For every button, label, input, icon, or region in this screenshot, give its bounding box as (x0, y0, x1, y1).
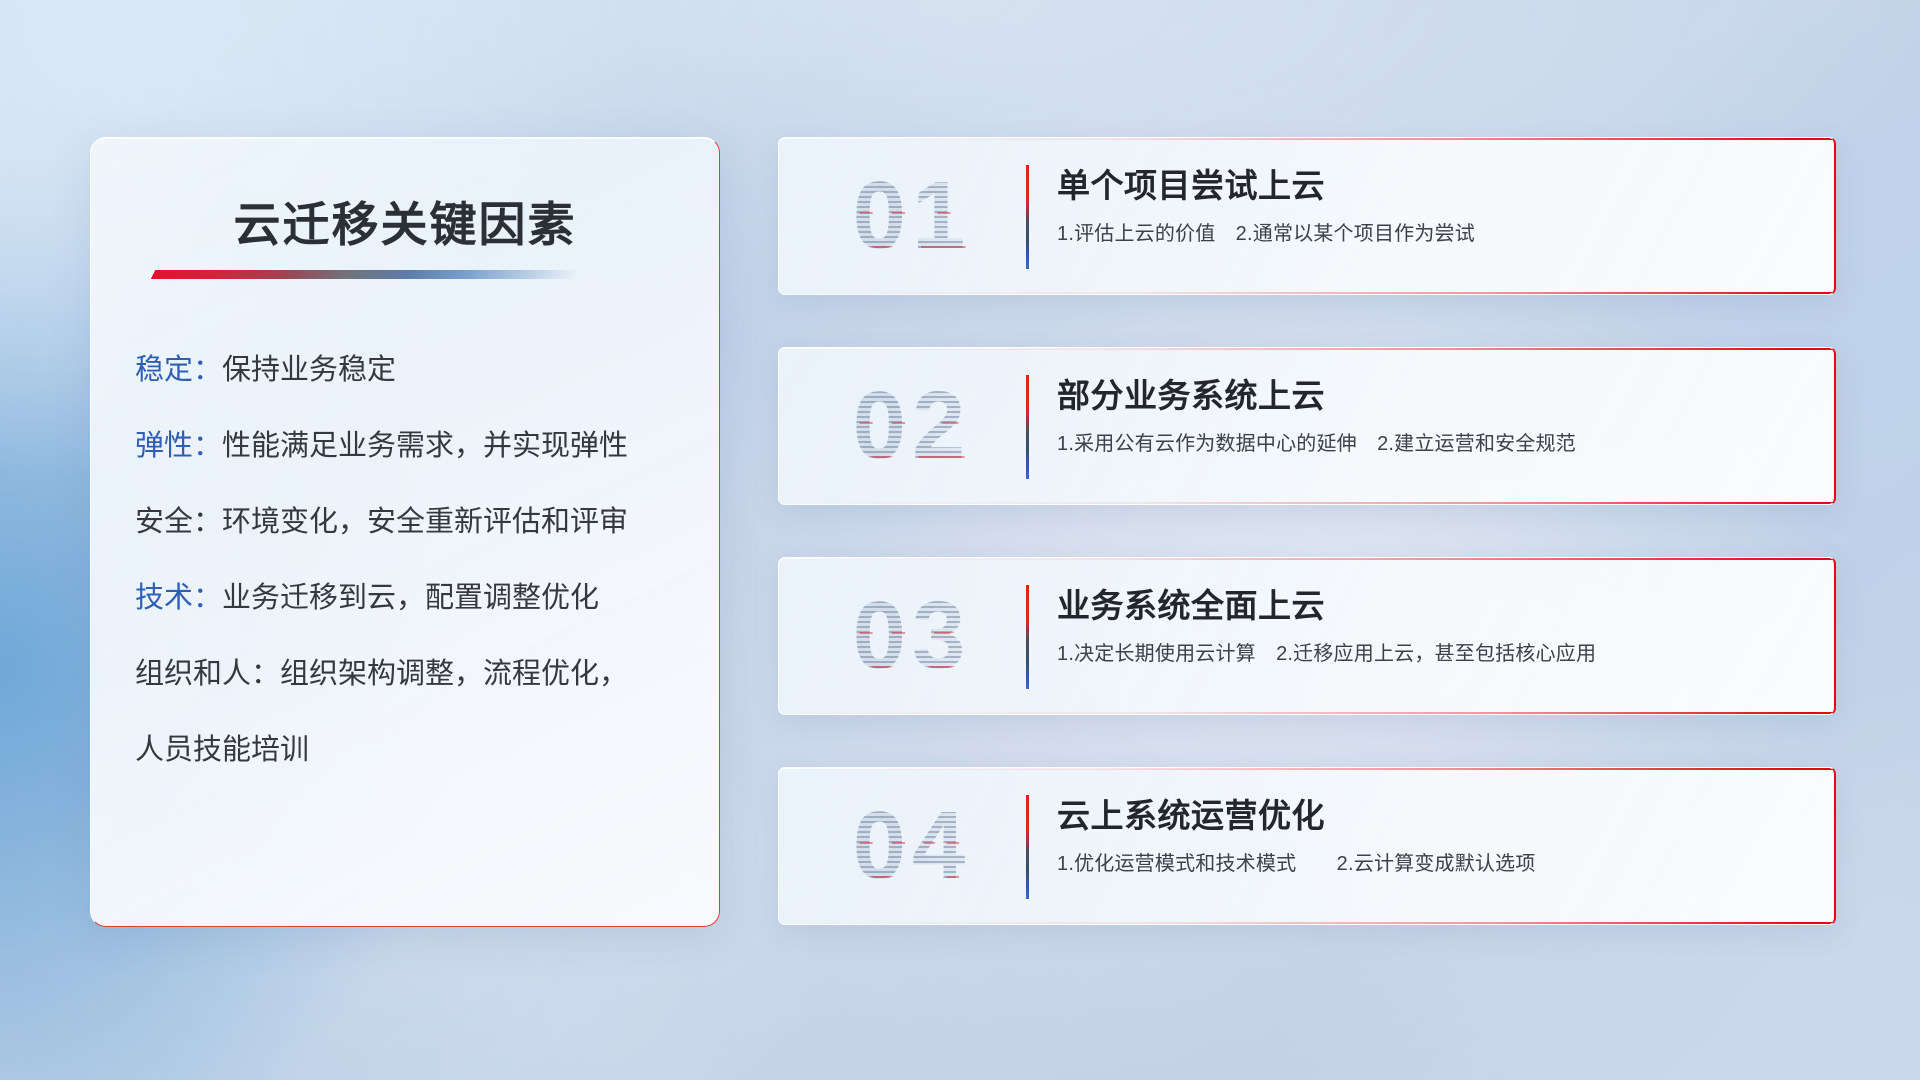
card-title: 单个项目尝试上云 (1057, 166, 1810, 206)
card-top-accent-line (779, 138, 1834, 140)
card-description: 1.决定长期使用云计算 2.迁移应用上云，甚至包括核心应用 (1057, 641, 1810, 667)
page-title: 云迁移关键因素 (91, 186, 719, 255)
list-item-text: 性能满足业务需求，并实现弹性 (222, 430, 628, 462)
card-accent-bar (1026, 165, 1029, 269)
card-top-accent-line (779, 348, 1834, 350)
card-body: 云上系统运营优化 1.优化运营模式和技术模式 2.云计算变成默认选项 (1057, 796, 1810, 877)
card-title: 业务系统全面上云 (1057, 586, 1810, 626)
card-step-number: 04 (797, 791, 1027, 901)
card-bottom-accent-line (779, 922, 1834, 924)
card-bottom-accent-line (779, 502, 1834, 504)
card-step-number: 03 (797, 581, 1027, 691)
card-accent-bar (1026, 375, 1029, 479)
stage-card[interactable]: 03 03 业务系统全面上云 1.决定长期使用云计算 2.迁移应用上云，甚至包括… (778, 557, 1836, 715)
card-top-accent-line (779, 768, 1834, 770)
list-item-text: 人员技能培训 (135, 734, 309, 766)
list-item-text: 环境变化，安全重新评估和评审 (222, 506, 628, 538)
card-description: 1.优化运营模式和技术模式 2.云计算变成默认选项 (1057, 851, 1810, 877)
list-item: 技术：业务迁移到云，配置调整优化 (135, 584, 691, 613)
stage-card[interactable]: 04 04 云上系统运营优化 1.优化运营模式和技术模式 2.云计算变成默认选项 (778, 767, 1836, 925)
card-body: 单个项目尝试上云 1.评估上云的价值 2.通常以某个项目作为尝试 (1057, 166, 1810, 247)
card-accent-bar (1026, 585, 1029, 689)
card-title: 云上系统运营优化 (1057, 796, 1810, 836)
stage-card[interactable]: 01 01 单个项目尝试上云 1.评估上云的价值 2.通常以某个项目作为尝试 (778, 137, 1836, 295)
title-underline-bar (151, 270, 579, 279)
list-item-text: 组织架构调整，流程优化， (280, 658, 628, 690)
card-step-number: 02 (797, 371, 1027, 481)
list-item: 弹性：性能满足业务需求，并实现弹性 (135, 432, 691, 461)
card-top-accent-line (779, 558, 1834, 560)
card-description: 1.采用公有云作为数据中心的延伸 2.建立运营和安全规范 (1057, 431, 1810, 457)
card-bottom-accent-line (779, 712, 1834, 714)
card-description: 1.评估上云的价值 2.通常以某个项目作为尝试 (1057, 221, 1810, 247)
key-factors-panel: 云迁移关键因素 稳定：保持业务稳定 弹性：性能满足业务需求，并实现弹性 安全：环… (90, 137, 720, 927)
card-step-number: 01 (797, 161, 1027, 271)
list-item-text: 保持业务稳定 (222, 354, 396, 386)
card-title: 部分业务系统上云 (1057, 376, 1810, 416)
stage-card[interactable]: 02 02 部分业务系统上云 1.采用公有云作为数据中心的延伸 2.建立运营和安… (778, 347, 1836, 505)
list-item: 人员技能培训 (135, 736, 691, 765)
list-item-text: 业务迁移到云，配置调整优化 (222, 582, 599, 614)
list-item-label: 组织和人： (135, 658, 280, 690)
card-body: 业务系统全面上云 1.决定长期使用云计算 2.迁移应用上云，甚至包括核心应用 (1057, 586, 1810, 667)
card-accent-bar (1026, 795, 1029, 899)
list-item-label: 安全： (135, 506, 222, 538)
list-item: 安全：环境变化，安全重新评估和评审 (135, 508, 691, 537)
list-item-label: 技术： (135, 582, 222, 614)
card-body: 部分业务系统上云 1.采用公有云作为数据中心的延伸 2.建立运营和安全规范 (1057, 376, 1810, 457)
key-factors-list: 稳定：保持业务稳定 弹性：性能满足业务需求，并实现弹性 安全：环境变化，安全重新… (135, 356, 691, 765)
list-item: 稳定：保持业务稳定 (135, 356, 691, 385)
card-bottom-accent-line (779, 292, 1834, 294)
list-item-label: 弹性： (135, 430, 222, 462)
stage-cards-list: 01 01 单个项目尝试上云 1.评估上云的价值 2.通常以某个项目作为尝试 0… (778, 137, 1836, 925)
list-item: 组织和人：组织架构调整，流程优化， (135, 660, 691, 689)
list-item-label: 稳定： (135, 354, 222, 386)
